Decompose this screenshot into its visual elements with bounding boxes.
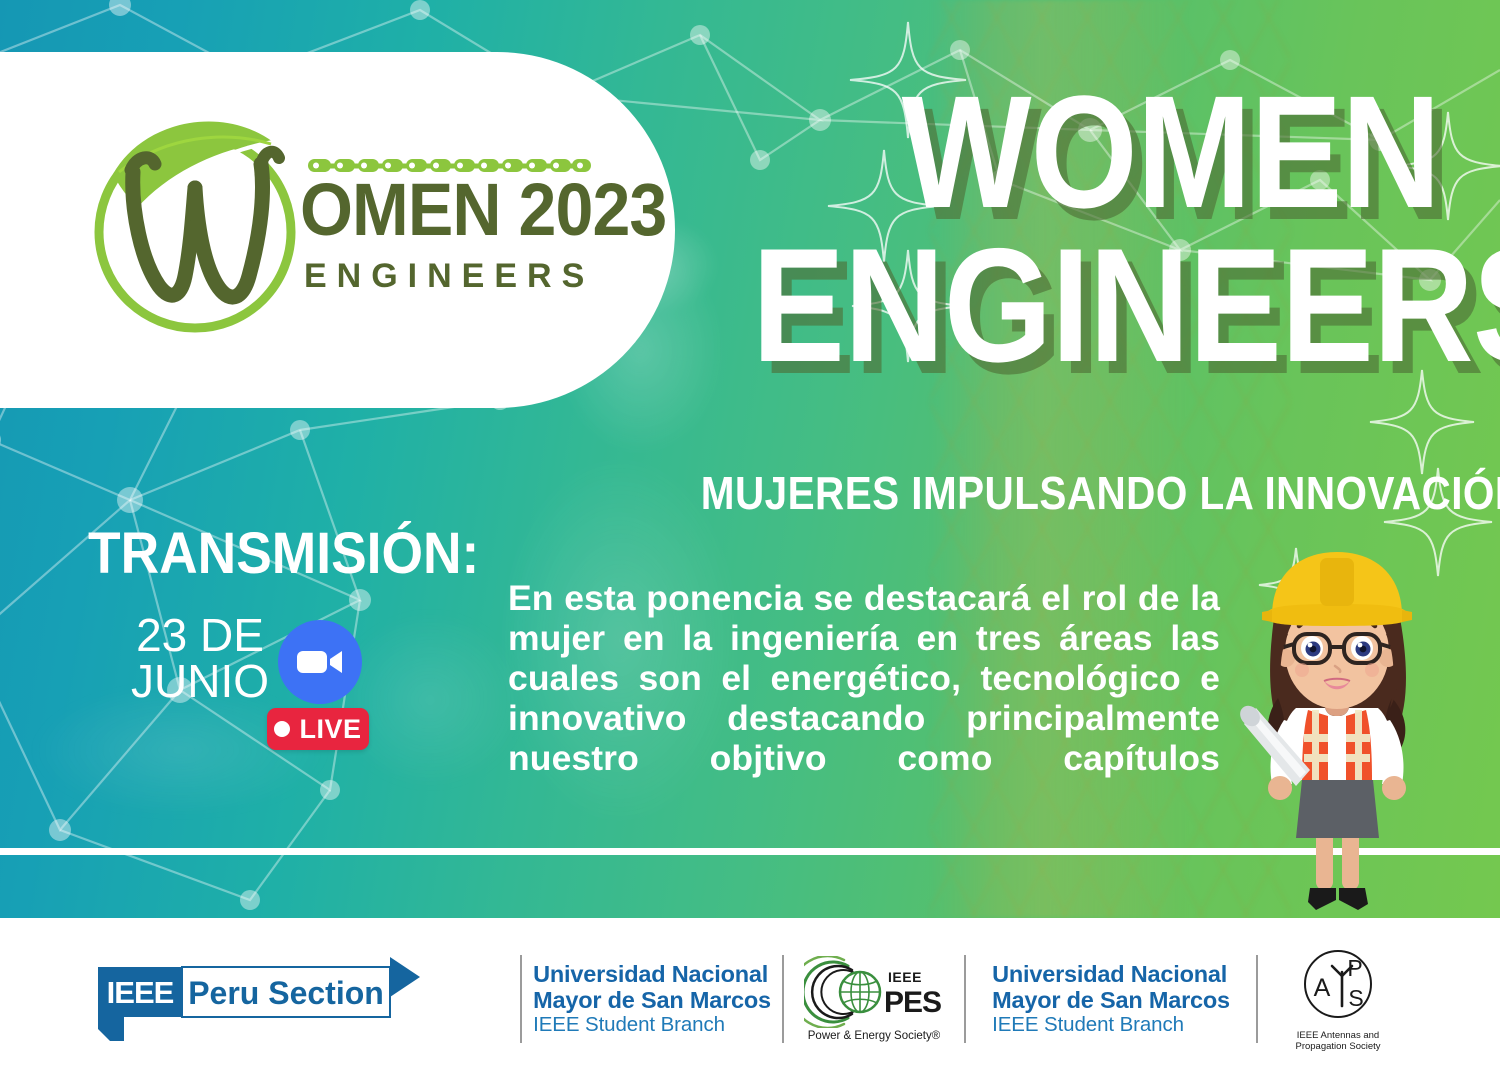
- live-label: LIVE: [299, 716, 361, 743]
- title-line-1: WOMEN: [752, 78, 1440, 225]
- unmsm-text-2: Universidad Nacional Mayor de San Marcos…: [992, 961, 1230, 1038]
- broadcast-date-line-1: 23 DE: [110, 612, 290, 658]
- unmsm2-line-2: Mayor de San Marcos: [992, 987, 1230, 1013]
- ieee-pes-logo: IEEE PES Power & Energy Society®: [784, 918, 964, 1080]
- broadcast-heading: TRANSMISIÓN:: [88, 525, 479, 583]
- ieee-peru-svg: IEEE Peru Section: [90, 949, 430, 1049]
- page-subtitle: MUJERES IMPULSANDO LA INNOVACIÓN: [701, 470, 1440, 516]
- aps-caption-line-2: Propagation Society: [1295, 1041, 1380, 1052]
- svg-text:A: A: [1314, 974, 1331, 1002]
- aps-caption: IEEE Antennas and Propagation Society: [1295, 1030, 1380, 1052]
- broadcast-date-line-2: JUNIO: [110, 658, 290, 704]
- video-camera-glyph: [295, 647, 345, 677]
- pes-globe-icon: IEEE PES: [804, 956, 944, 1028]
- event-poster: OMEN 2023 ENGINEERS WOMEN ENGINEERS MUJE…: [0, 0, 1500, 1080]
- pes-caption: Power & Energy Society®: [808, 1030, 940, 1042]
- logo-word-main: OMEN 2023: [300, 173, 666, 247]
- unmsm-line-3: IEEE Student Branch: [533, 1014, 771, 1037]
- description-text: En esta ponencia se destacará el rol de …: [508, 578, 1220, 819]
- aps-caption-line-1: IEEE Antennas and: [1295, 1030, 1380, 1041]
- title-line-2: ENGINEERS: [752, 231, 1440, 380]
- unmsm2-line-3: IEEE Student Branch: [992, 1014, 1230, 1037]
- logo-word-sub: ENGINEERS: [304, 259, 594, 293]
- svg-text:Peru Section: Peru Section: [188, 975, 384, 1011]
- live-badge: LIVE: [267, 708, 369, 750]
- unmsm2-line-1: Universidad Nacional: [992, 961, 1230, 987]
- sponsor-unmsm-aps: Universidad Nacional Mayor de San Marcos…: [966, 918, 1256, 1080]
- ieee-aps-logo: A P S IEEE Antennas and Propagation Soci…: [1258, 918, 1418, 1080]
- unmsm-line-1: Universidad Nacional: [533, 961, 771, 987]
- unmsm-line-2: Mayor de San Marcos: [533, 987, 771, 1013]
- svg-text:IEEE: IEEE: [107, 975, 174, 1010]
- page-title: WOMEN ENGINEERS: [640, 78, 1440, 380]
- pes-mark-top: IEEE: [888, 969, 922, 985]
- female-engineer-character: [1232, 548, 1442, 918]
- sponsor-unmsm-pes: Universidad Nacional Mayor de San Marcos…: [522, 918, 782, 1080]
- live-dot-icon: [274, 721, 290, 737]
- women-engineers-logo: OMEN 2023 ENGINEERS: [75, 100, 605, 350]
- zoom-video-camera-icon[interactable]: [278, 620, 362, 704]
- footer-sponsors: IEEE Peru Section Universidad Nacional M…: [0, 918, 1500, 1080]
- svg-text:S: S: [1348, 985, 1363, 1011]
- broadcast-date: 23 DE JUNIO: [110, 612, 290, 704]
- aps-circle-icon: A P S: [1298, 946, 1378, 1026]
- ieee-peru-section-logo: IEEE Peru Section: [0, 918, 520, 1080]
- leaf-circle-w-icon: [75, 100, 320, 340]
- pes-mark-main: PES: [884, 986, 941, 1019]
- unmsm-text-1: Universidad Nacional Mayor de San Marcos…: [533, 961, 771, 1038]
